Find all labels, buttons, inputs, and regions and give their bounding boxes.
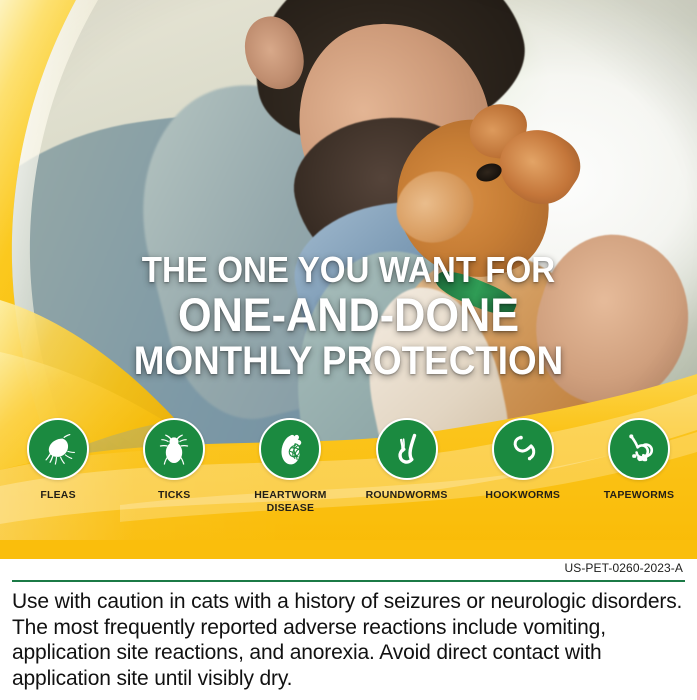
parasite-item-tapeworms[interactable]: TAPEWORMS: [581, 418, 697, 538]
parasite-item-heartworm[interactable]: HEARTWORM DISEASE: [232, 418, 348, 538]
parasite-item-roundworms[interactable]: ROUNDWORMS: [349, 418, 465, 538]
parasite-item-fleas[interactable]: FLEAS: [0, 418, 116, 538]
parasite-item-ticks[interactable]: TICKS: [116, 418, 232, 538]
parasite-item-hookworms[interactable]: HOOKWORMS: [465, 418, 581, 538]
hero-section: THE ONE YOU WANT FOR ONE-AND-DONE MONTHL…: [0, 0, 697, 559]
tick-icon: [143, 418, 205, 480]
headline-line-2: ONE-AND-DONE: [28, 291, 669, 338]
warning-text: Use with caution in cats with a history …: [12, 589, 687, 691]
headline-line-1: THE ONE YOU WANT FOR: [28, 252, 669, 288]
parasite-label: TICKS: [158, 489, 191, 502]
parasite-label: ROUNDWORMS: [366, 489, 448, 502]
hookworm-icon: [492, 418, 554, 480]
divider-rule: [12, 580, 685, 582]
headline-line-3: MONTHLY PROTECTION: [28, 341, 669, 381]
heart-icon: [259, 418, 321, 480]
parasite-label: FLEAS: [40, 489, 75, 502]
headline: THE ONE YOU WANT FOR ONE-AND-DONE MONTHL…: [0, 252, 697, 381]
parasite-label: HEARTWORM DISEASE: [232, 489, 348, 514]
product-code: US-PET-0260-2023-A: [564, 561, 683, 575]
parasite-icon-row: FLEAS T: [0, 418, 697, 538]
tapeworm-icon: [608, 418, 670, 480]
parasite-label: HOOKWORMS: [485, 489, 560, 502]
advertisement-banner: THE ONE YOU WANT FOR ONE-AND-DONE MONTHL…: [0, 0, 697, 700]
parasite-label: TAPEWORMS: [604, 489, 674, 502]
flea-icon: [27, 418, 89, 480]
roundworm-icon: [376, 418, 438, 480]
